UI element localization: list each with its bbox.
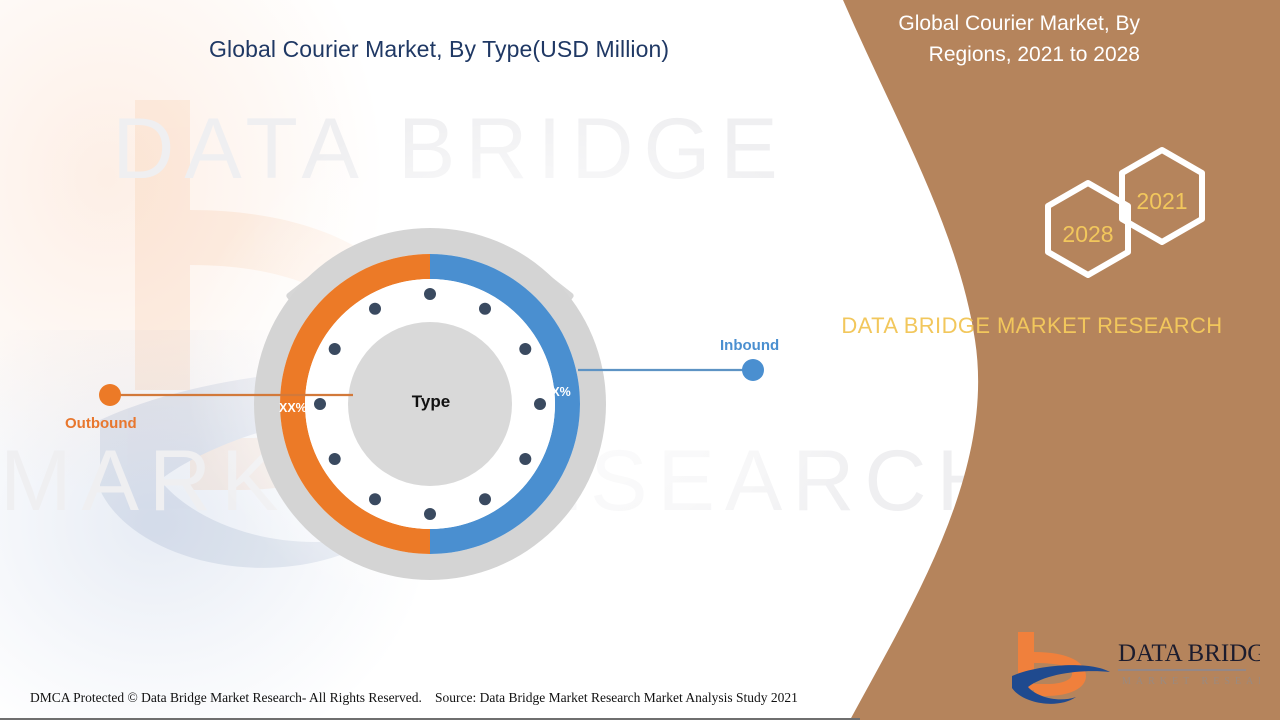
outbound-marker-dot <box>99 384 121 406</box>
legend-label-outbound: Outbound <box>65 415 137 432</box>
hex-2021-label: 2021 <box>1136 188 1187 214</box>
inbound-leader-line <box>578 355 768 385</box>
page-title: Global Courier Market, By Type(USD Milli… <box>209 36 669 63</box>
inbound-marker-dot <box>742 359 764 381</box>
panel-title: Global Courier Market, By Regions, 2021 … <box>820 8 1140 70</box>
hex-2028-label: 2028 <box>1062 221 1113 247</box>
inbound-percent-label: XX% <box>543 385 571 399</box>
legend-label-inbound: Inbound <box>720 337 779 354</box>
logo-mark <box>1012 632 1110 704</box>
brand-name: DATA BRIDGE MARKET RESEARCH <box>820 310 1244 342</box>
hexagon-group: 2021 2028 <box>1016 135 1246 285</box>
data-bridge-logo: DATA BRIDGE MARKET RESEARCH <box>1010 628 1260 708</box>
outbound-leader-line <box>95 380 355 410</box>
panel-shape <box>820 0 1280 720</box>
logo-tagline: MARKET RESEARCH <box>1122 676 1260 687</box>
footer-source: Source: Data Bridge Market Research Mark… <box>435 690 798 706</box>
logo-wordmark: DATA BRIDGE <box>1118 640 1260 667</box>
right-side-panel: Global Courier Market, By Regions, 2021 … <box>820 0 1280 720</box>
infographic-canvas: DATA BRIDGE MARKET RESEARCH <box>0 0 1280 720</box>
footer-copyright: DMCA Protected © Data Bridge Market Rese… <box>30 690 422 706</box>
